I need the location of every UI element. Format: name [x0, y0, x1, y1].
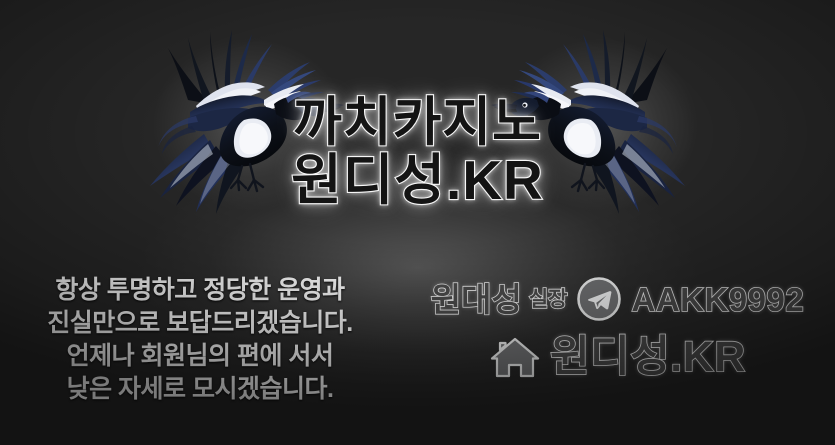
slogan-line-4: 낮은 자세로 모시겠습니다.: [0, 373, 400, 406]
site-url[interactable]: 원디성.KR: [550, 336, 746, 379]
telegram-contact-row[interactable]: 원대성 실장 AAKK9992: [431, 276, 804, 322]
slogan-line-1: 항상 투명하고 정당한 운영과: [0, 274, 400, 307]
contact-block: 원대성 실장 AAKK9992: [400, 258, 835, 380]
telegram-icon[interactable]: [576, 276, 622, 322]
home-icon[interactable]: [489, 334, 541, 380]
slogan-line-3: 언제나 회원님의 편에 서서: [0, 340, 400, 373]
telegram-id[interactable]: AAKK9992: [631, 283, 804, 316]
slogan-line-2: 진실만으로 보답드리겠습니다.: [0, 307, 400, 340]
website-row[interactable]: 원디성.KR: [489, 334, 746, 380]
manager-role: 실장: [529, 289, 568, 310]
manager-name: 원대성: [431, 283, 522, 316]
slogan-block: 항상 투명하고 정당한 운영과 진실만으로 보답드리겠습니다. 언제나 회원님의…: [0, 258, 400, 406]
promo-banner: 까치카지노 원디성.KR 항상 투명하고 정당한 운영과 진실만으로 보답드리겠…: [0, 0, 835, 445]
magpie-illustration-left: [118, 8, 358, 223]
lower-section: 항상 투명하고 정당한 운영과 진실만으로 보답드리겠습니다. 언제나 회원님의…: [0, 258, 835, 445]
magpie-illustration-right: [477, 8, 717, 223]
